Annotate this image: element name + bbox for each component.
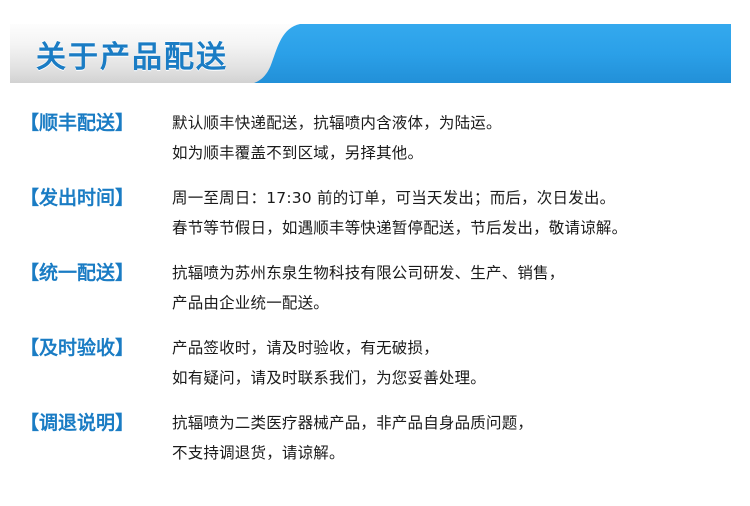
info-row-return-policy: 【调退说明】 抗辐喷为二类医疗器械产品，非产品自身品质问题， 不支持调退货，请谅… bbox=[20, 408, 734, 468]
info-row-shunfeng-delivery: 【顺丰配送】 默认顺丰快递配送，抗辐喷内含液体，为陆运。 如为顺丰覆盖不到区域，… bbox=[20, 108, 734, 168]
info-row-line: 产品由企业统一配送。 bbox=[172, 288, 734, 318]
page-title: 关于产品配送 bbox=[36, 32, 228, 76]
info-row-text: 默认顺丰快递配送，抗辐喷内含液体，为陆运。 如为顺丰覆盖不到区域，另择其他。 bbox=[172, 108, 734, 168]
product-shipping-info-page: 关于产品配送 【顺丰配送】 默认顺丰快递配送，抗辐喷内含液体，为陆运。 如为顺丰… bbox=[0, 0, 750, 506]
info-row-text: 周一至周日：17:30 前的订单，可当天发出；而后，次日发出。 春节等节假日，如… bbox=[172, 183, 734, 243]
info-row-line: 产品签收时，请及时验收，有无破损， bbox=[172, 333, 734, 363]
info-row-text: 抗辐喷为二类医疗器械产品，非产品自身品质问题， 不支持调退货，请谅解。 bbox=[172, 408, 734, 468]
info-row-prompt-inspection: 【及时验收】 产品签收时，请及时验收，有无破损， 如有疑问，请及时联系我们，为您… bbox=[20, 333, 734, 393]
info-row-text: 产品签收时，请及时验收，有无破损， 如有疑问，请及时联系我们，为您妥善处理。 bbox=[172, 333, 734, 393]
info-row-text: 抗辐喷为苏州东泉生物科技有限公司研发、生产、销售， 产品由企业统一配送。 bbox=[172, 258, 734, 318]
info-row-line: 春节等节假日，如遇顺丰等快递暂停配送，节后发出，敬请谅解。 bbox=[172, 213, 734, 243]
info-row-line: 默认顺丰快递配送，抗辐喷内含液体，为陆运。 bbox=[172, 108, 734, 138]
info-row-unified-delivery: 【统一配送】 抗辐喷为苏州东泉生物科技有限公司研发、生产、销售， 产品由企业统一… bbox=[20, 258, 734, 318]
info-row-line: 如有疑问，请及时联系我们，为您妥善处理。 bbox=[172, 363, 734, 393]
info-row-label: 【顺丰配送】 bbox=[20, 108, 172, 138]
info-row-line: 周一至周日：17:30 前的订单，可当天发出；而后，次日发出。 bbox=[172, 183, 734, 213]
info-row-label: 【调退说明】 bbox=[20, 408, 172, 438]
page-header-banner: 关于产品配送 bbox=[10, 24, 731, 83]
info-row-label: 【统一配送】 bbox=[20, 258, 172, 288]
info-row-line: 不支持调退货，请谅解。 bbox=[172, 438, 734, 468]
info-row-line: 抗辐喷为二类医疗器械产品，非产品自身品质问题， bbox=[172, 408, 734, 438]
info-row-line: 抗辐喷为苏州东泉生物科技有限公司研发、生产、销售， bbox=[172, 258, 734, 288]
shipping-info-list: 【顺丰配送】 默认顺丰快递配送，抗辐喷内含液体，为陆运。 如为顺丰覆盖不到区域，… bbox=[20, 108, 734, 468]
info-row-dispatch-time: 【发出时间】 周一至周日：17:30 前的订单，可当天发出；而后，次日发出。 春… bbox=[20, 183, 734, 243]
info-row-label: 【发出时间】 bbox=[20, 183, 172, 213]
info-row-line: 如为顺丰覆盖不到区域，另择其他。 bbox=[172, 138, 734, 168]
info-row-label: 【及时验收】 bbox=[20, 333, 172, 363]
